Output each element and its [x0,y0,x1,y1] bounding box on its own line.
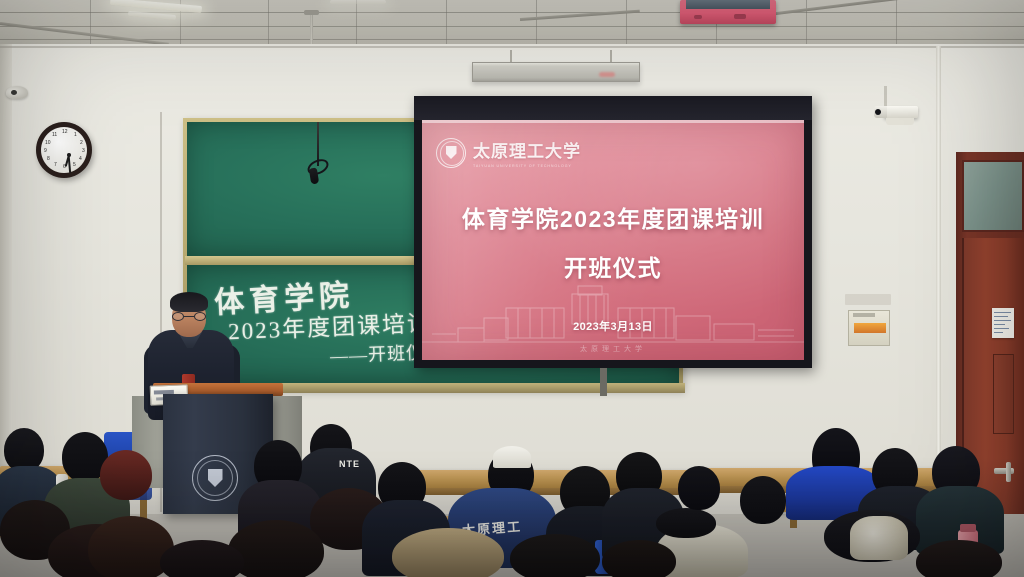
camera-mount [884,86,887,108]
audience-head [656,508,716,538]
slide-date: 2023年3月13日 [422,318,804,334]
security-camera [884,106,918,118]
audience-scarf [850,516,908,560]
door-handle[interactable] [994,468,1014,474]
slide-title-block: 体育学院2023年度团课培训 开班仪式 [422,200,804,283]
slide-title-line2: 开班仪式 [422,249,804,283]
audience-head [510,534,600,577]
panel-label-plate [845,294,891,305]
screen-stand [600,368,607,396]
audience-head [916,540,1002,577]
ceiling-projector[interactable] [680,0,776,24]
audience-head [678,466,720,510]
camera-lens-icon [874,106,887,118]
presentation-slide[interactable]: 太原理工大学 TAIYUAN UNIVERSITY OF TECHNOLOGY … [422,120,804,360]
electrical-panel-box[interactable] [848,310,890,346]
university-crest-icon [192,455,238,501]
slide-logo: 太原理工大学 TAIYUAN UNIVERSITY OF TECHNOLOGY [436,137,581,168]
audience-head [392,528,504,577]
ceiling-light [330,0,386,4]
wall-clock: 12 1 2 3 4 5 6 7 8 9 10 11 [36,122,92,178]
classroom-photo-scene: 12 1 2 3 4 5 6 7 8 9 10 11 [0,0,1024,577]
door-notice-paper [992,308,1014,338]
audience-head [160,540,244,577]
wall-heater-panel [472,62,640,82]
door-panel-inset [993,354,1014,434]
university-seal-icon [436,138,466,168]
jacket-logo-text: NTE [339,459,360,469]
audience-head [493,446,531,468]
wall-column [936,46,941,516]
panel-warning-strip [854,323,886,333]
audience-head [740,476,786,524]
camera-base [886,118,914,125]
slide-motto: 太原理工大学 [422,344,804,354]
projection-screen-top-bar [414,96,812,120]
speaker-glasses-icon [172,312,206,321]
slide-logo-cn: 太原理工大学 [473,137,581,162]
bottle-cap [960,524,976,532]
door-handle-bar[interactable] [1006,462,1011,482]
ceiling [0,0,1024,46]
conduit-mount [304,10,319,15]
audience-head [100,450,152,500]
smoke-detector-icon [6,86,28,99]
slide-title-line1: 体育学院2023年度团课培训 [422,200,804,234]
door-transom-glass [962,160,1024,232]
audience-head [602,540,676,577]
slide-logo-en: TAIYUAN UNIVERSITY OF TECHNOLOGY [473,164,572,168]
speaker-hair [170,292,208,312]
projector-lens-icon [734,14,746,19]
